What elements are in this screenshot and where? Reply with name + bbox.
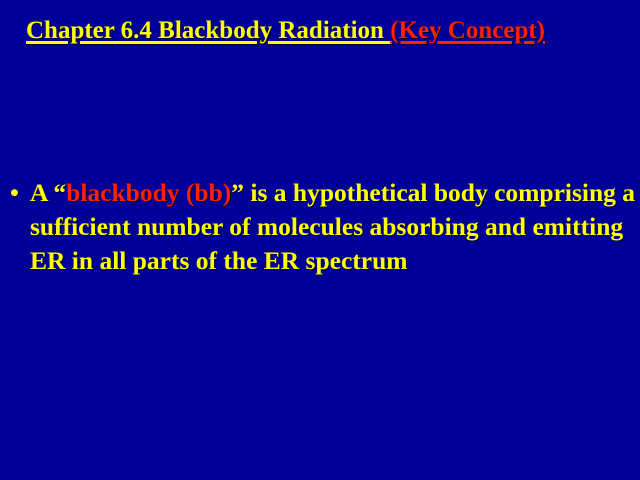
body-content: • A “blackbody (bb)” is a hypothetical b… bbox=[4, 176, 636, 278]
page-title-highlight: (Key Concept) bbox=[390, 17, 545, 44]
close-quote-mark: ” bbox=[231, 178, 244, 207]
page-title: Chapter 6.4 Blackbody Radiation (Key Con… bbox=[26, 14, 630, 48]
list-item: • A “blackbody (bb)” is a hypothetical b… bbox=[4, 176, 636, 278]
bullet-lead-text: A bbox=[30, 178, 53, 207]
list-item-text: A “blackbody (bb)” is a hypothetical bod… bbox=[30, 176, 636, 278]
bullet-icon: • bbox=[10, 176, 19, 210]
slide-canvas: Chapter 6.4 Blackbody Radiation (Key Con… bbox=[0, 0, 640, 480]
open-quote-mark: “ bbox=[53, 178, 66, 207]
page-title-main: Chapter 6.4 Blackbody Radiation bbox=[26, 17, 390, 44]
bullet-emphasis-text: blackbody (bb) bbox=[66, 178, 231, 207]
